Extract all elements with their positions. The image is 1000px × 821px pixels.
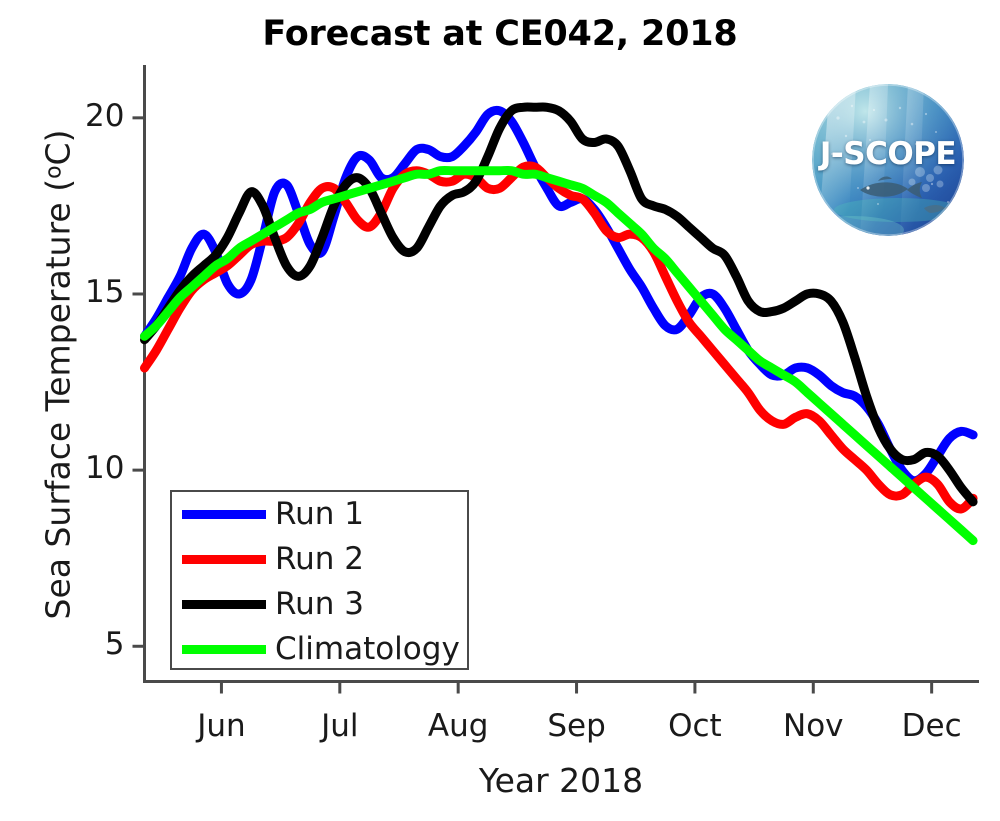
jscope-logo-label: J-SCOPE <box>812 136 964 172</box>
x-tick-label: Sep <box>522 708 632 744</box>
chart-legend[interactable]: Run 1 Run 2 Run 3 Climatology <box>170 490 469 670</box>
legend-swatch-run-1 <box>182 510 266 519</box>
legend-swatch-climatology <box>182 645 266 654</box>
x-tick-label: Aug <box>403 708 513 744</box>
y-tick-label: 20 <box>55 98 125 134</box>
y-axis-ticks <box>133 118 145 646</box>
y-tick-label: 15 <box>55 274 125 310</box>
legend-item-run-3[interactable]: Run 3 <box>172 582 467 627</box>
series-line-climatology <box>145 170 974 540</box>
x-tick-label: Jul <box>285 708 395 744</box>
legend-label-run-2: Run 2 <box>275 544 364 575</box>
forecast-chart-figure: Forecast at CE042, 2018 Sea Surface Temp… <box>0 0 1000 821</box>
legend-label-run-3: Run 3 <box>275 589 364 620</box>
y-tick-label: 5 <box>55 626 125 662</box>
x-tick-label: Nov <box>758 708 868 744</box>
x-tick-label: Dec <box>877 708 987 744</box>
x-axis-ticks <box>221 682 931 694</box>
legend-label-climatology: Climatology <box>275 634 460 665</box>
legend-item-run-2[interactable]: Run 2 <box>172 537 467 582</box>
legend-item-climatology[interactable]: Climatology <box>172 627 467 672</box>
legend-swatch-run-3 <box>182 600 266 609</box>
legend-item-run-1[interactable]: Run 1 <box>172 492 467 537</box>
legend-swatch-run-2 <box>182 555 266 564</box>
x-tick-label: Oct <box>640 708 750 744</box>
jscope-logo: J-SCOPE <box>812 84 964 236</box>
x-tick-label: Jun <box>166 708 276 744</box>
legend-label-run-1: Run 1 <box>275 499 364 530</box>
y-tick-label: 10 <box>55 450 125 486</box>
